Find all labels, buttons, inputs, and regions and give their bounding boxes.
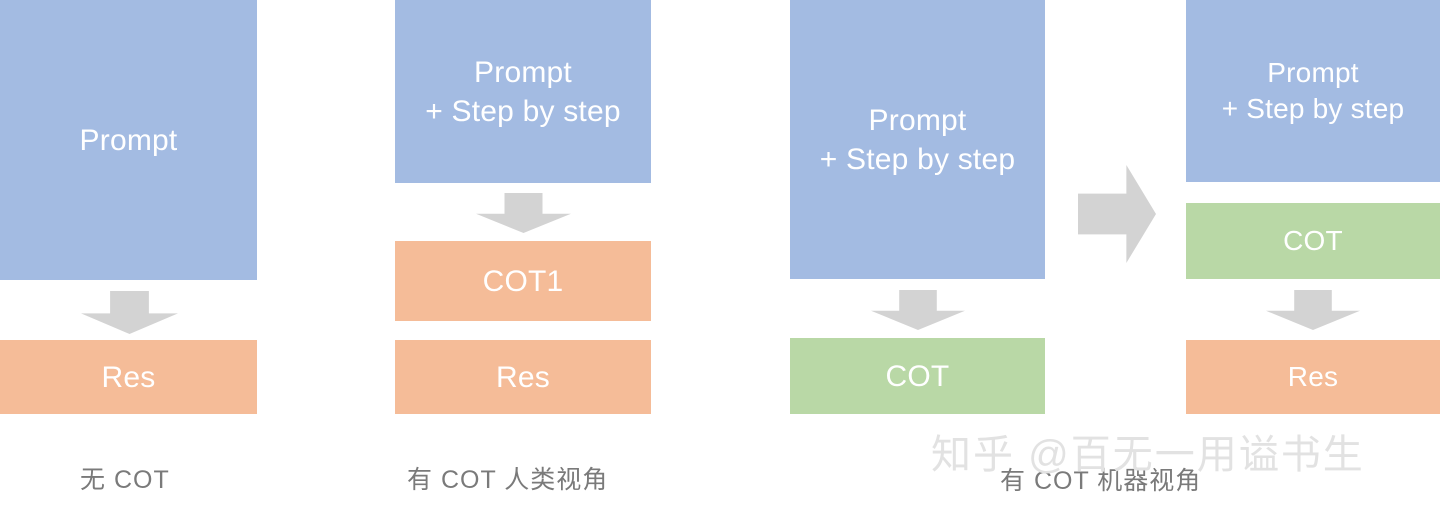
arrow-down-icon-col3 (871, 290, 965, 330)
caption-col1: 无 COT (80, 460, 170, 496)
caption-col2: 有 COT 人类视角 (407, 460, 608, 496)
arrow-down-icon-col4 (1266, 290, 1360, 330)
node-cot1-col2: COT1 (395, 241, 651, 321)
node-result-col1: Res (0, 340, 257, 414)
diagram-canvas: Prompt Res 无 COT Prompt + Step by step C… (0, 0, 1440, 514)
arrow-down-icon-col1 (81, 291, 178, 334)
node-prompt-col2: Prompt + Step by step (395, 0, 651, 183)
node-prompt-col4: Prompt + Step by step (1186, 0, 1440, 182)
node-cot-col4: COT (1186, 203, 1440, 279)
node-prompt-col1: Prompt (0, 0, 257, 280)
node-cot-col3: COT (790, 338, 1045, 414)
arrow-right-icon-stage (1078, 163, 1156, 265)
arrow-down-icon-col2 (476, 193, 571, 233)
node-result-col2: Res (395, 340, 651, 414)
caption-col3: 有 COT 机器视角 (1000, 461, 1201, 497)
node-result-col4: Res (1186, 340, 1440, 414)
node-prompt-col3: Prompt + Step by step (790, 0, 1045, 279)
